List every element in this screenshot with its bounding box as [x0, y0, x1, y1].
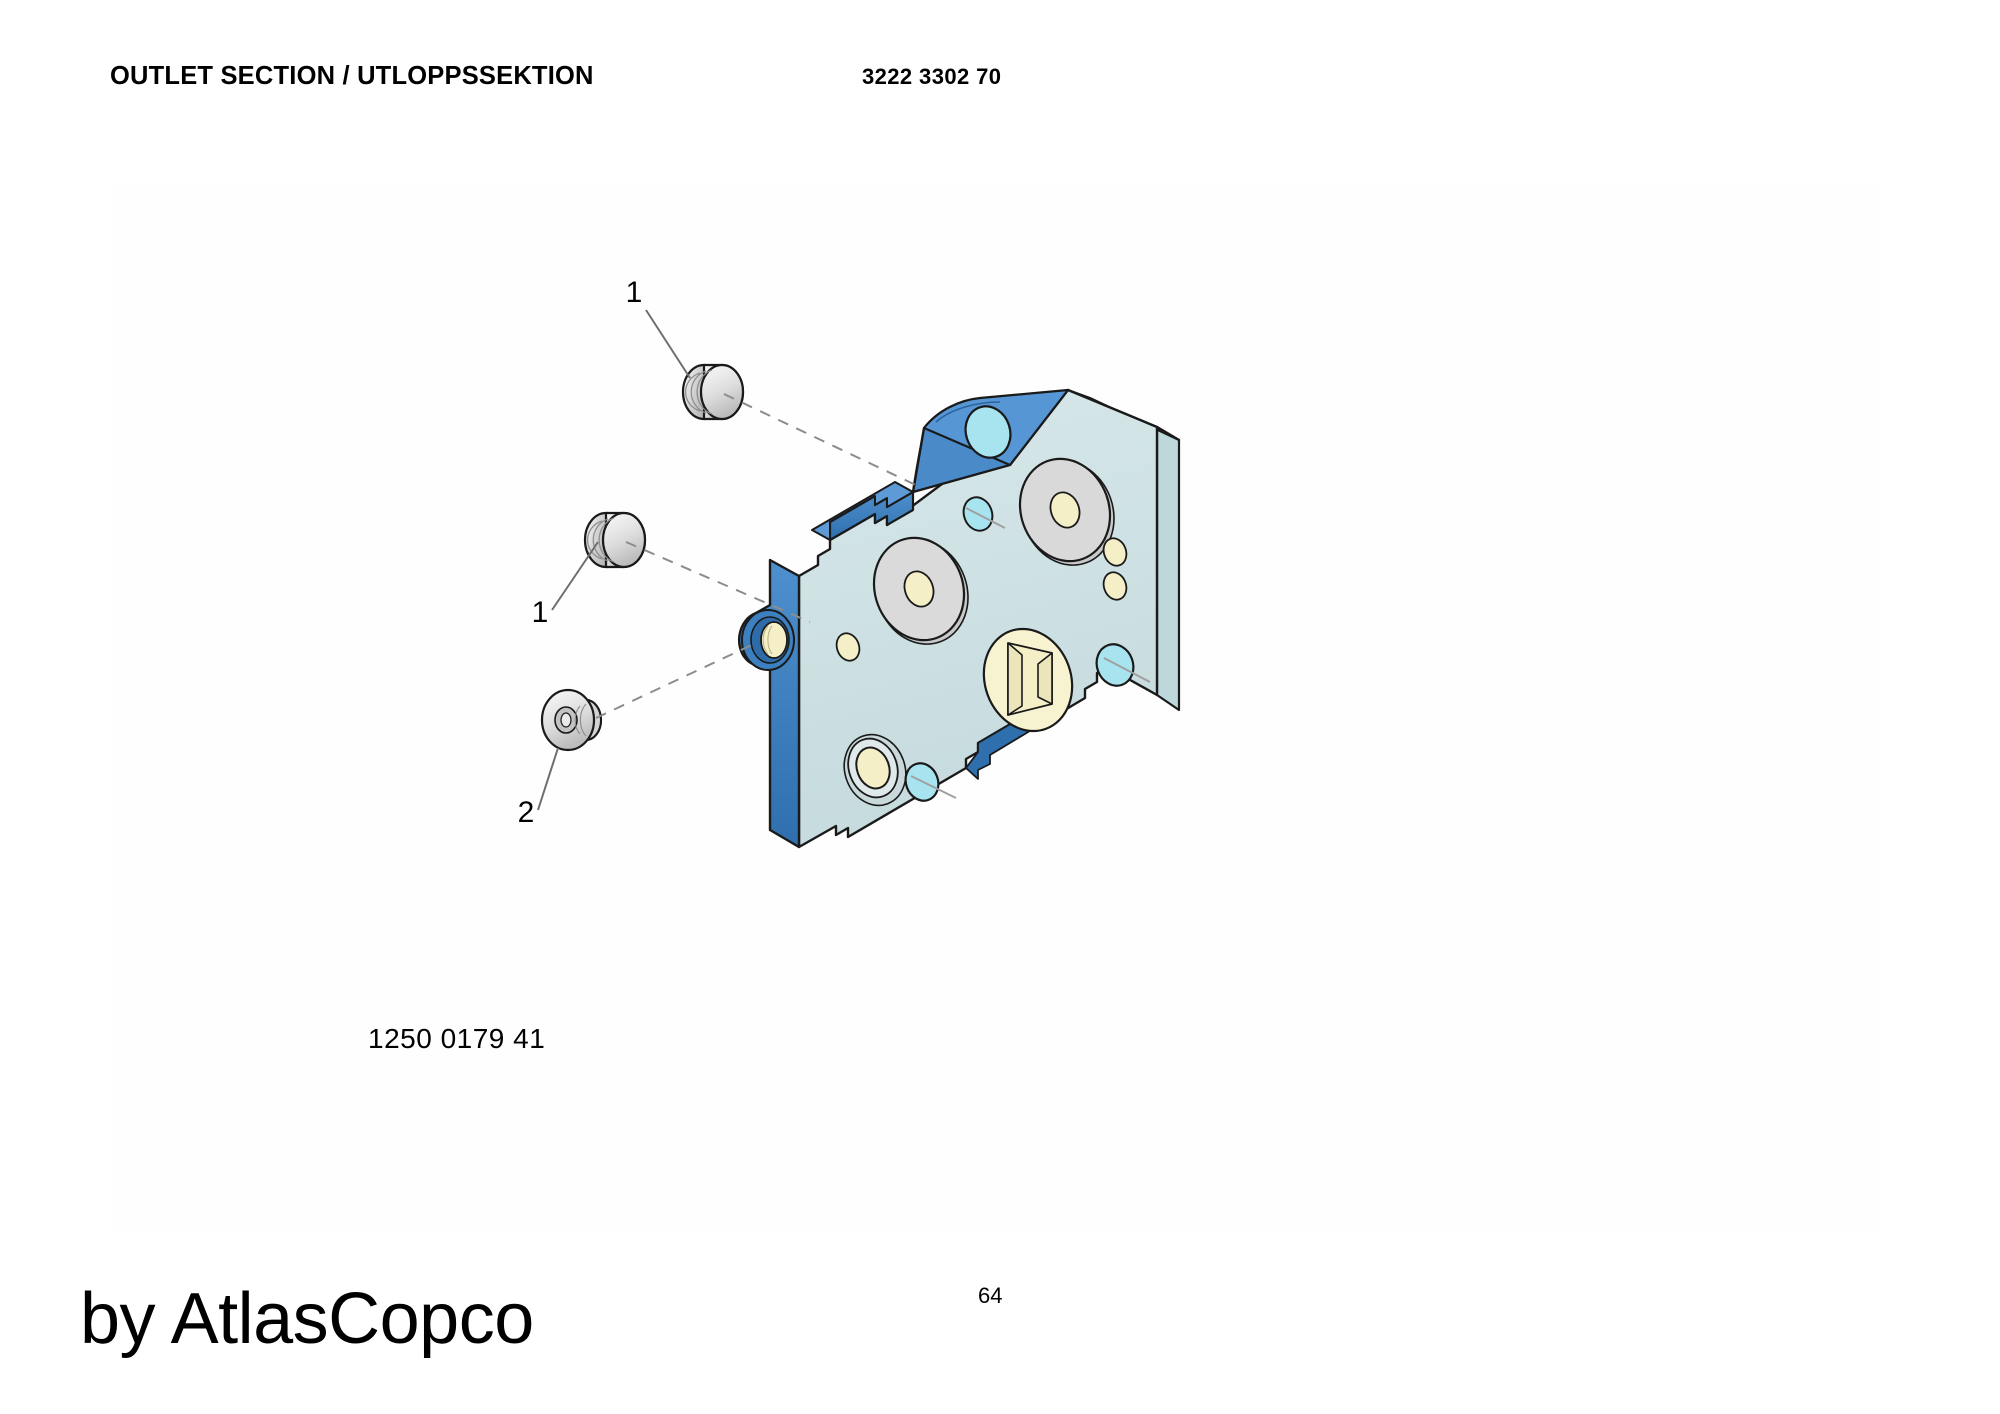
- callout-2-bottom-label: 2: [518, 796, 535, 829]
- part-2-plug-bottom: [542, 690, 601, 750]
- assembly-number: 1250 0179 41: [368, 1023, 545, 1055]
- plate-left-flange: [756, 560, 799, 847]
- parts-catalog-page: OUTLET SECTION / UTLOPPSSEKTION 3222 330…: [0, 0, 2000, 1414]
- page-number: 64: [978, 1283, 1002, 1309]
- leader-1-top: [646, 310, 690, 378]
- part-1-plug-middle: [585, 513, 645, 567]
- part-1-plug-top: [683, 365, 743, 419]
- mounting-plate: [739, 390, 1179, 847]
- page-title: OUTLET SECTION / UTLOPPSSEKTION: [110, 62, 594, 91]
- callout-1-top-label: 1: [626, 276, 643, 309]
- leader-1-middle: [552, 542, 598, 610]
- brand-logo-text: by AtlasCopco: [80, 1283, 534, 1355]
- callout-1-middle-label: 1: [532, 596, 549, 629]
- axis-plug-1-top: [724, 394, 922, 488]
- axis-plug-2: [596, 642, 758, 718]
- document-number: 3222 3302 70: [862, 64, 1001, 90]
- plate-left-boss: [739, 610, 794, 670]
- exploded-view-illustration: 1 1 2: [660, 370, 1280, 950]
- plate-right-thickness: [1157, 427, 1179, 710]
- leader-2: [538, 748, 558, 810]
